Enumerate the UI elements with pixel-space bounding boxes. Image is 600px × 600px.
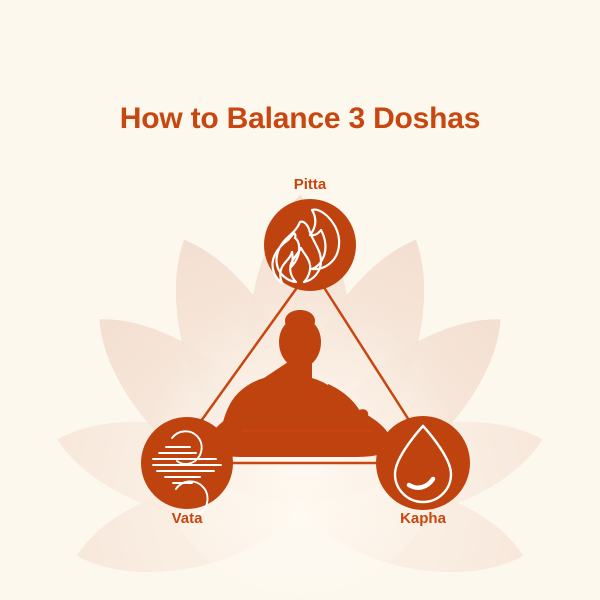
dosha-node-kapha[interactable] bbox=[376, 416, 470, 510]
dosha-label-vata: Vata bbox=[127, 510, 247, 527]
diagram-layer bbox=[0, 0, 600, 600]
dosha-node-vata[interactable] bbox=[141, 417, 233, 517]
dosha-label-pitta: Pitta bbox=[250, 176, 370, 193]
kapha-circle[interactable] bbox=[376, 416, 470, 510]
pitta-circle[interactable] bbox=[264, 199, 356, 291]
dosha-node-pitta[interactable] bbox=[264, 199, 356, 291]
page-title: How to Balance 3 Doshas bbox=[0, 102, 600, 136]
meditating-figure bbox=[208, 310, 391, 457]
dosha-label-kapha: Kapha bbox=[363, 510, 483, 527]
dosha-infographic: How to Balance 3 Doshas Pitta Vata Kapha bbox=[0, 0, 600, 600]
